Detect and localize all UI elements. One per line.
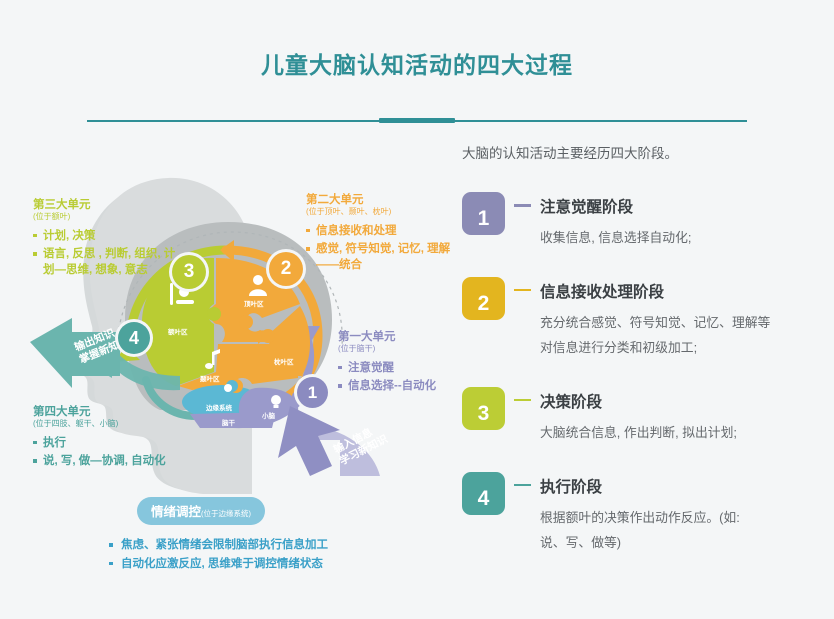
unit-3-item: 计划, 决策 bbox=[33, 228, 185, 244]
stage-title-4: 执行阶段 bbox=[540, 475, 740, 497]
unit-3-item: 语言, 反思 , 判断, 组织, 计划—思维, 想象, 意志 bbox=[33, 246, 185, 279]
stages-panel: 大脑的认知活动主要经历四大阶段。 1 注意觉醒阶段 收集信息, 信息选择自动化;… bbox=[462, 142, 824, 582]
unit-1-item: 信息选择--自动化 bbox=[338, 378, 468, 394]
stage-dash-2 bbox=[514, 289, 531, 292]
stage-row: 2 信息接收处理阶段 充分统合感觉、符号知觉、记忆、理解等对信息进行分类和初级加… bbox=[462, 277, 824, 361]
emotion-badge-title: 情绪调控 bbox=[151, 501, 201, 520]
stage-dash-1 bbox=[514, 204, 531, 207]
stage-badge-2: 2 bbox=[462, 277, 505, 320]
annotation-unit-3: 第三大单元 (位于额叶) 计划, 决策 语言, 反思 , 判断, 组织, 计划—… bbox=[33, 198, 185, 279]
brain-region-label-frontal: 额叶区 bbox=[168, 326, 188, 336]
divider-center-bar bbox=[379, 118, 455, 123]
puzzle-knob bbox=[261, 329, 275, 343]
stage-text-4: 执行阶段 根据额叶的决策作出动作反应。(如:说、写、做等) bbox=[540, 472, 740, 556]
stage-text-3: 决策阶段 大脑统合信息, 作出判断, 拟出计划; bbox=[540, 387, 737, 446]
stage-badge-4: 4 bbox=[462, 472, 505, 515]
unit-3-subheading: (位于额叶) bbox=[33, 212, 185, 222]
unit-4-heading: 第四大单元 bbox=[33, 405, 183, 419]
page-title: 儿童大脑认知活动的四大过程 bbox=[0, 46, 834, 80]
stage-title-3: 决策阶段 bbox=[540, 390, 737, 412]
emotion-list: 焦虑、紧张情绪会限制脑部执行信息加工 自动化应激反应, 思维难于调控情绪状态 bbox=[95, 536, 425, 574]
unit-1-item: 注意觉醒 bbox=[338, 360, 468, 376]
emotion-item: 焦虑、紧张情绪会限制脑部执行信息加工 bbox=[109, 536, 425, 555]
stage-title-2: 信息接收处理阶段 bbox=[540, 280, 770, 302]
brain-region-label-limbic: 边缘系统 bbox=[206, 402, 232, 412]
brain-step-bubble-4: 4 bbox=[118, 322, 150, 354]
stage-badge-3: 3 bbox=[462, 387, 505, 430]
unit-3-heading: 第三大单元 bbox=[33, 198, 185, 212]
input-arrow-head bbox=[278, 406, 340, 476]
stage-desc-4: 根据额叶的决策作出动作反应。(如:说、写、做等) bbox=[540, 506, 740, 556]
stage-badge-1: 1 bbox=[462, 192, 505, 235]
unit-4-item: 执行 bbox=[33, 435, 183, 451]
stage-desc-1: 收集信息, 信息选择自动化; bbox=[540, 226, 691, 251]
stages-intro: 大脑的认知活动主要经历四大阶段。 bbox=[462, 142, 824, 162]
brain-region-label-parietal: 顶叶区 bbox=[244, 298, 264, 308]
emotion-badge-subtitle: (位于边缘系统) bbox=[201, 508, 251, 519]
stage-desc-2: 充分统合感觉、符号知觉、记忆、理解等对信息进行分类和初级加工; bbox=[540, 311, 770, 361]
unit-1-list: 注意觉醒 信息选择--自动化 bbox=[338, 360, 468, 395]
annotation-unit-2: 第二大单元 (位于顶叶、颞叶、枕叶) 信息接收和处理 感觉, 符号知觉, 记忆,… bbox=[306, 193, 458, 274]
unit-2-heading: 第二大单元 bbox=[306, 193, 458, 207]
annotation-unit-1: 第一大单元 (位于脑干) 注意觉醒 信息选择--自动化 bbox=[338, 330, 468, 394]
unit-2-item: 感觉, 符号知觉, 记忆, 理解——统合 bbox=[306, 241, 458, 274]
puzzle-knob bbox=[207, 307, 221, 321]
unit-4-subheading: (位于四肢、躯干、小脑) bbox=[33, 419, 183, 429]
unit-2-subheading: (位于顶叶、颞叶、枕叶) bbox=[306, 207, 458, 217]
unit-4-list: 执行 说, 写, 做—协调, 自动化 bbox=[33, 435, 183, 470]
stage-dash-3 bbox=[514, 399, 531, 402]
brain-step-bubble-1: 1 bbox=[297, 377, 328, 408]
brain-illustration: 额叶区 顶叶区 颞叶区 枕叶区 边缘系统 小脑 脑干 输出知识 掌握新知识 输入… bbox=[0, 140, 460, 610]
brain-region-label-occipital: 枕叶区 bbox=[274, 356, 294, 366]
emotion-regulation-badge: 情绪调控 (位于边缘系统) bbox=[137, 497, 265, 525]
brain-step-bubble-2: 2 bbox=[269, 252, 303, 286]
unit-2-item: 信息接收和处理 bbox=[306, 223, 458, 239]
emotion-regulation-block: 情绪调控 (位于边缘系统) 焦虑、紧张情绪会限制脑部执行信息加工 自动化应激反应… bbox=[95, 497, 425, 574]
page-header: 儿童大脑认知活动的四大过程 bbox=[0, 0, 834, 124]
stage-text-2: 信息接收处理阶段 充分统合感觉、符号知觉、记忆、理解等对信息进行分类和初级加工; bbox=[540, 277, 770, 361]
stage-desc-3: 大脑统合信息, 作出判断, 拟出计划; bbox=[540, 421, 737, 446]
unit-1-subheading: (位于脑干) bbox=[338, 344, 468, 354]
unit-4-item: 说, 写, 做—协调, 自动化 bbox=[33, 453, 183, 469]
unit-3-list: 计划, 决策 语言, 反思 , 判断, 组织, 计划—思维, 想象, 意志 bbox=[33, 228, 185, 279]
unit-2-list: 信息接收和处理 感觉, 符号知觉, 记忆, 理解——统合 bbox=[306, 223, 458, 274]
stage-row: 3 决策阶段 大脑统合信息, 作出判断, 拟出计划; bbox=[462, 387, 824, 446]
brain-region-label-brainstem: 脑干 bbox=[222, 417, 235, 427]
stage-row: 4 执行阶段 根据额叶的决策作出动作反应。(如:说、写、做等) bbox=[462, 472, 824, 556]
brain-region-label-temporal: 颞叶区 bbox=[200, 373, 220, 383]
header-divider bbox=[87, 118, 747, 124]
stage-dash-4 bbox=[514, 484, 531, 487]
unit-1-heading: 第一大单元 bbox=[338, 330, 468, 344]
stage-title-1: 注意觉醒阶段 bbox=[540, 195, 691, 217]
stage-text-1: 注意觉醒阶段 收集信息, 信息选择自动化; bbox=[540, 192, 691, 251]
stage-row: 1 注意觉醒阶段 收集信息, 信息选择自动化; bbox=[462, 192, 824, 251]
puzzle-knob bbox=[239, 315, 253, 329]
limbic-pictogram bbox=[224, 384, 232, 392]
brain-region-label-cerebellum: 小脑 bbox=[262, 410, 275, 420]
annotation-unit-4: 第四大单元 (位于四肢、躯干、小脑) 执行 说, 写, 做—协调, 自动化 bbox=[33, 405, 183, 469]
emotion-item: 自动化应激反应, 思维难于调控情绪状态 bbox=[109, 555, 425, 574]
